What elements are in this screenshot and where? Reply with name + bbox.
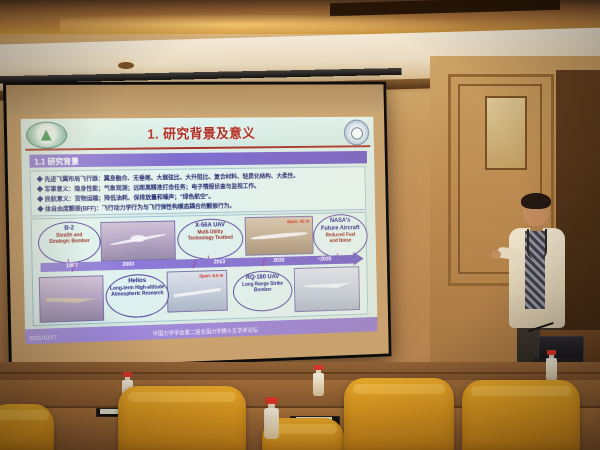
callout-rq180: RQ-180 UAV Long Range Strike Bomber <box>233 270 293 312</box>
callout-desc: Strategic Bomber <box>40 238 99 245</box>
ceiling-spotlight <box>118 62 134 69</box>
timeline-year: ~2025 <box>317 256 331 262</box>
aircraft-photo-helios-2: Span: 8.5 m <box>167 270 228 313</box>
aircraft-timeline-diagram: Span: 42 m B-2 Stealth and Strategic Bom… <box>31 212 369 326</box>
aircraft-photo-b2 <box>39 275 104 323</box>
timeline-arrow-icon <box>353 252 363 266</box>
chair <box>344 378 454 450</box>
span-label: Span: 8.5 m <box>199 273 223 279</box>
table-edge <box>0 372 600 374</box>
water-bottle <box>546 350 557 381</box>
chair <box>118 386 246 450</box>
water-bottle <box>313 365 324 396</box>
timeline-year: 2020 <box>273 258 284 264</box>
callout-desc: Atmospheric Research <box>107 290 167 298</box>
aircraft-photo-helios: Span: 42 m <box>245 216 314 256</box>
section-label-bar: 1.1 研究背景 <box>29 151 367 168</box>
callout-helios: Helios Long-term High-altitude Atmospher… <box>105 273 169 318</box>
aircraft-photo-x56a <box>100 221 176 262</box>
callout-x56a: X-56A UAV Multi-Utility Technology Testb… <box>177 218 244 260</box>
callout-desc: Technology Testbed <box>179 234 241 241</box>
timeline-year: 2013 <box>214 259 226 265</box>
water-bottle <box>264 397 279 439</box>
wall-artwork <box>485 96 527 170</box>
callout-b2: B-2 Stealth and Strategic Bomber <box>38 221 101 264</box>
callout-desc: and Noise <box>315 237 366 244</box>
callout-name-2: Future Aircraft <box>315 224 366 233</box>
slide-title: 1. 研究背景及意义 <box>21 121 374 143</box>
timeline-year: 2003 <box>122 262 134 268</box>
screen-surface: 1. 研究背景及意义 1.1 研究背景 ◆ 先进飞翼布局飞行器：翼身融合、无垂尾… <box>6 84 389 368</box>
presenter-lanyard <box>527 229 547 259</box>
presenter-hand <box>491 250 501 259</box>
presentation-slide: 1. 研究背景及意义 1.1 研究背景 ◆ 先进飞翼布局飞行器：翼身融合、无垂尾… <box>21 117 378 345</box>
chair <box>462 380 580 450</box>
span-label: Span: 42 m <box>287 219 310 224</box>
bullet-list: ◆ 先进飞翼布局飞行器：翼身融合、无垂尾、大展弦比、大升阻比、复合材料、轻质化结… <box>30 166 367 216</box>
section-label: 1.1 研究背景 <box>34 156 79 167</box>
chair <box>0 404 54 450</box>
screen-blank-area <box>6 84 384 115</box>
projection-screen: 1. 研究背景及意义 1.1 研究背景 ◆ 先进飞翼布局飞行器：翼身融合、无垂尾… <box>3 82 392 372</box>
presenter-hair <box>521 193 551 209</box>
conference-room-photo: 1. 研究背景及意义 1.1 研究背景 ◆ 先进飞翼布局飞行器：翼身融合、无垂尾… <box>0 0 600 450</box>
aircraft-photo-rq180 <box>294 266 360 312</box>
